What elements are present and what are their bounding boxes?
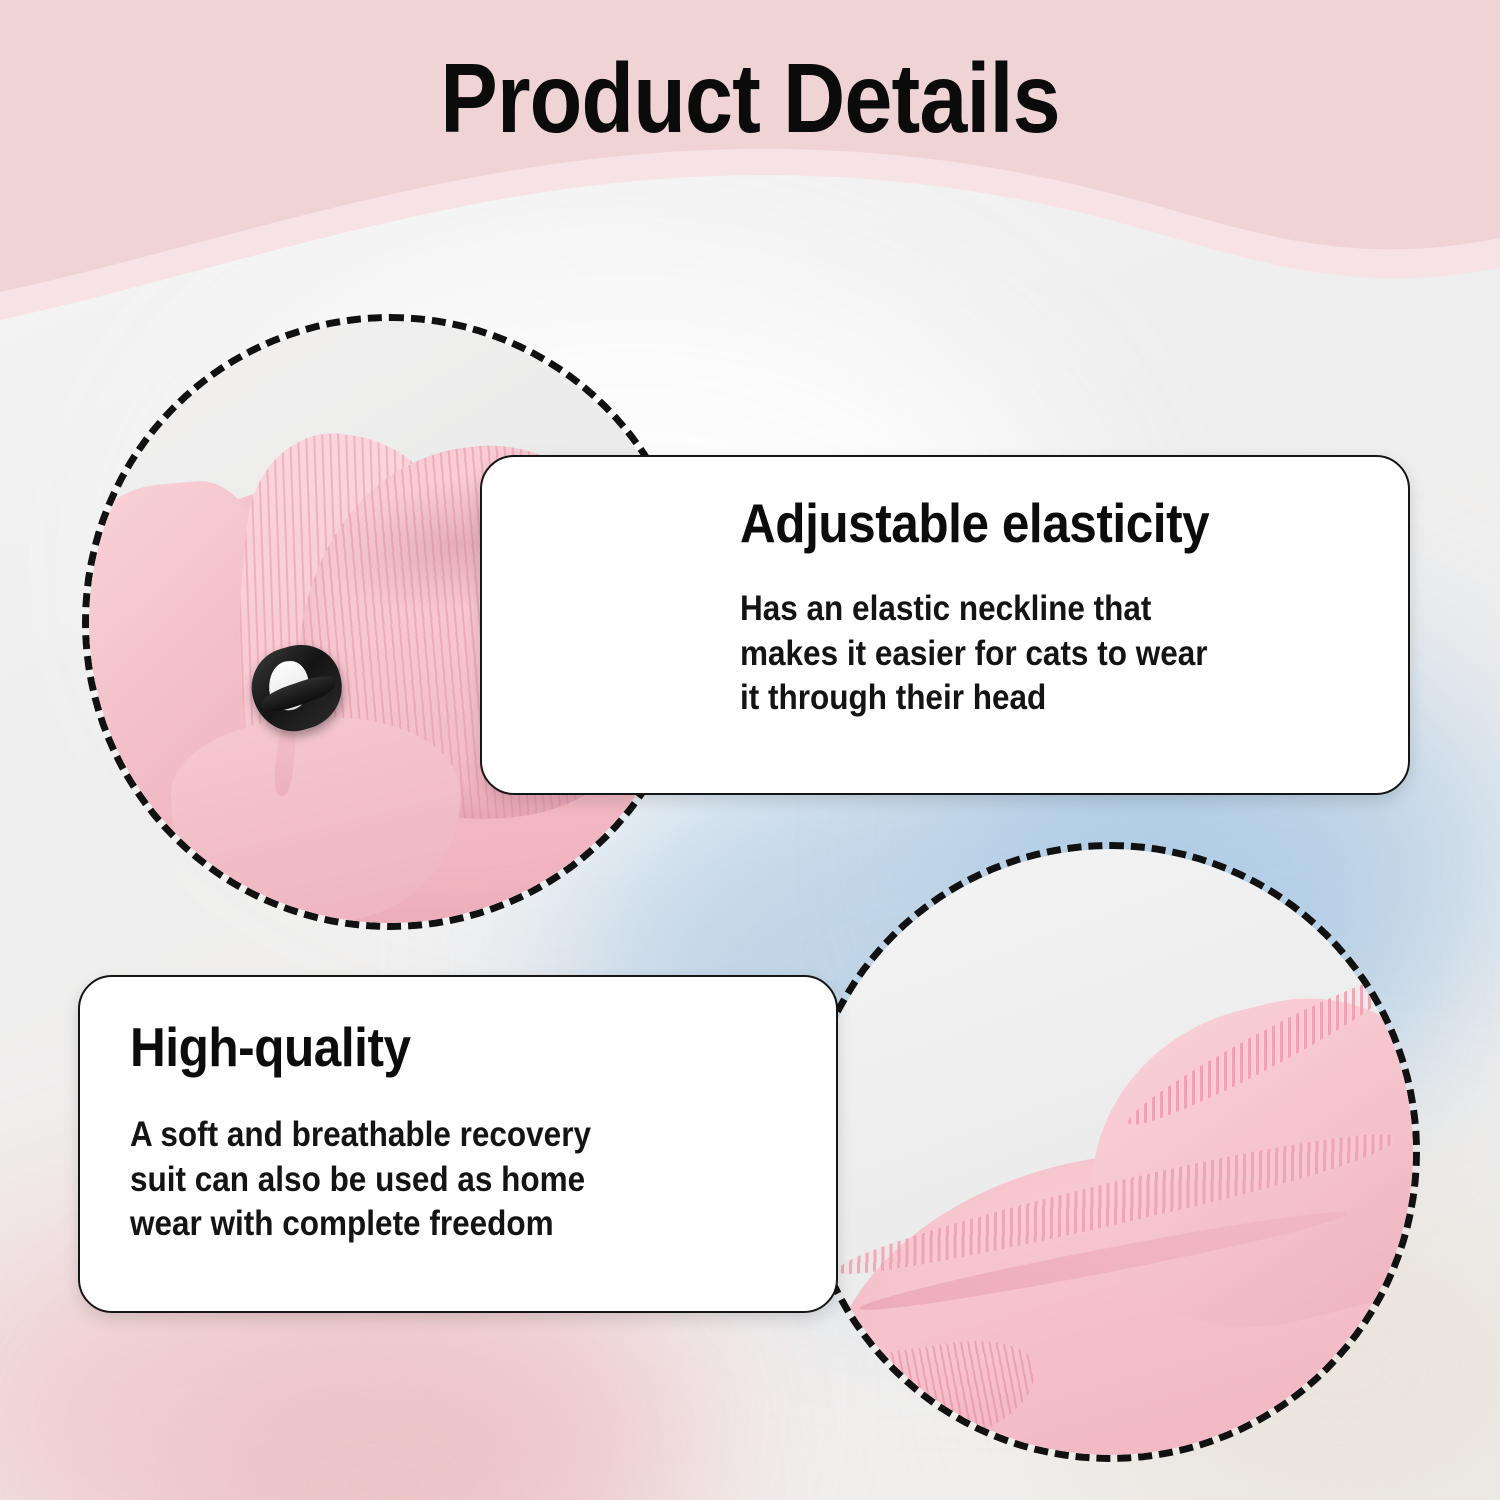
feature-card-body-line: it through their head <box>740 676 1305 721</box>
feature-card-body-line: Has an elastic neckline that <box>740 587 1305 632</box>
feature-card-heading: Adjustable elasticity <box>740 457 1305 553</box>
page-title: Product Details <box>90 47 1410 150</box>
hem-photo <box>807 849 1413 1455</box>
feature-card-body: A soft and breathable recovery suit can … <box>130 1077 733 1247</box>
feature-card-body-line: A soft and breathable recovery <box>130 1113 733 1158</box>
feature-card-body: Has an elastic neckline that makes it ea… <box>740 553 1305 721</box>
feature-card-heading: High-quality <box>130 977 733 1077</box>
feature-card-body-line: wear with complete freedom <box>130 1202 733 1247</box>
feature-card-adjustable-elasticity: Adjustable elasticity Has an elastic nec… <box>480 455 1410 795</box>
feature-card-body-line: suit can also be used as home <box>130 1158 733 1203</box>
feature-card-body-line: makes it easier for cats to wear <box>740 632 1305 677</box>
header-banner: Product Details <box>0 0 1500 330</box>
feature-card-high-quality: High-quality A soft and breathable recov… <box>78 975 838 1313</box>
feature-card-text-block: Adjustable elasticity Has an elastic nec… <box>740 457 1368 793</box>
feature-card-text-block: High-quality A soft and breathable recov… <box>130 977 800 1311</box>
photo-circle-hem <box>800 842 1420 1462</box>
product-details-infographic: Product Details Adjustable <box>0 0 1500 1500</box>
